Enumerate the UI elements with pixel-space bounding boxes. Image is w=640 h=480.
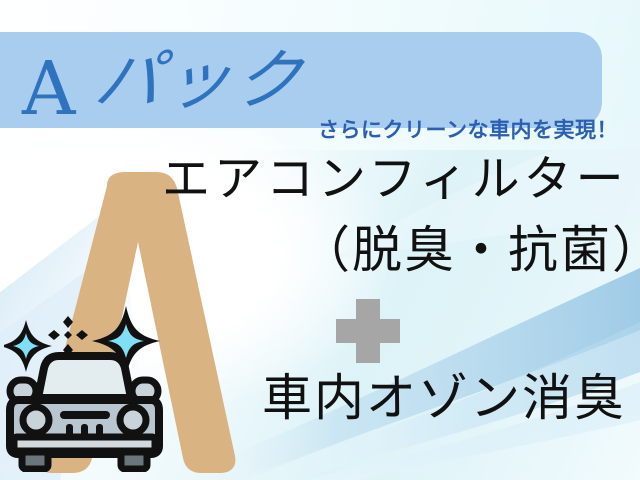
banner-tagline: さらにクリーンな車内を実現！	[318, 118, 618, 142]
car-wheel-left	[22, 452, 48, 469]
car-headlight-right	[120, 407, 146, 433]
feature-line-ozone-deodorize: 車内オゾン消臭	[262, 370, 626, 426]
feature-line-air-filter: エアコンフィルター	[162, 152, 628, 206]
plus-cross-icon	[336, 299, 400, 363]
car-wheel-right	[121, 452, 147, 469]
banner-title-kana: パック	[91, 46, 308, 116]
banner-initial: A	[22, 52, 75, 126]
sparkle-dot-cluster	[48, 316, 88, 356]
sparkling-car-icon	[4, 300, 184, 472]
car-windshield	[38, 356, 131, 398]
promo-banner-image: A パック さらにクリーンな車内を実現！ エアコンフィルター （脱臭・抗菌） 車…	[0, 0, 640, 480]
feature-line-deodorize-antibacterial: （脱臭・抗菌）	[300, 222, 640, 278]
car-headlight-left	[23, 407, 49, 433]
header-banner: A パック さらにクリーンな車内を実現！	[0, 32, 602, 128]
plus-bar-vertical	[356, 299, 380, 363]
